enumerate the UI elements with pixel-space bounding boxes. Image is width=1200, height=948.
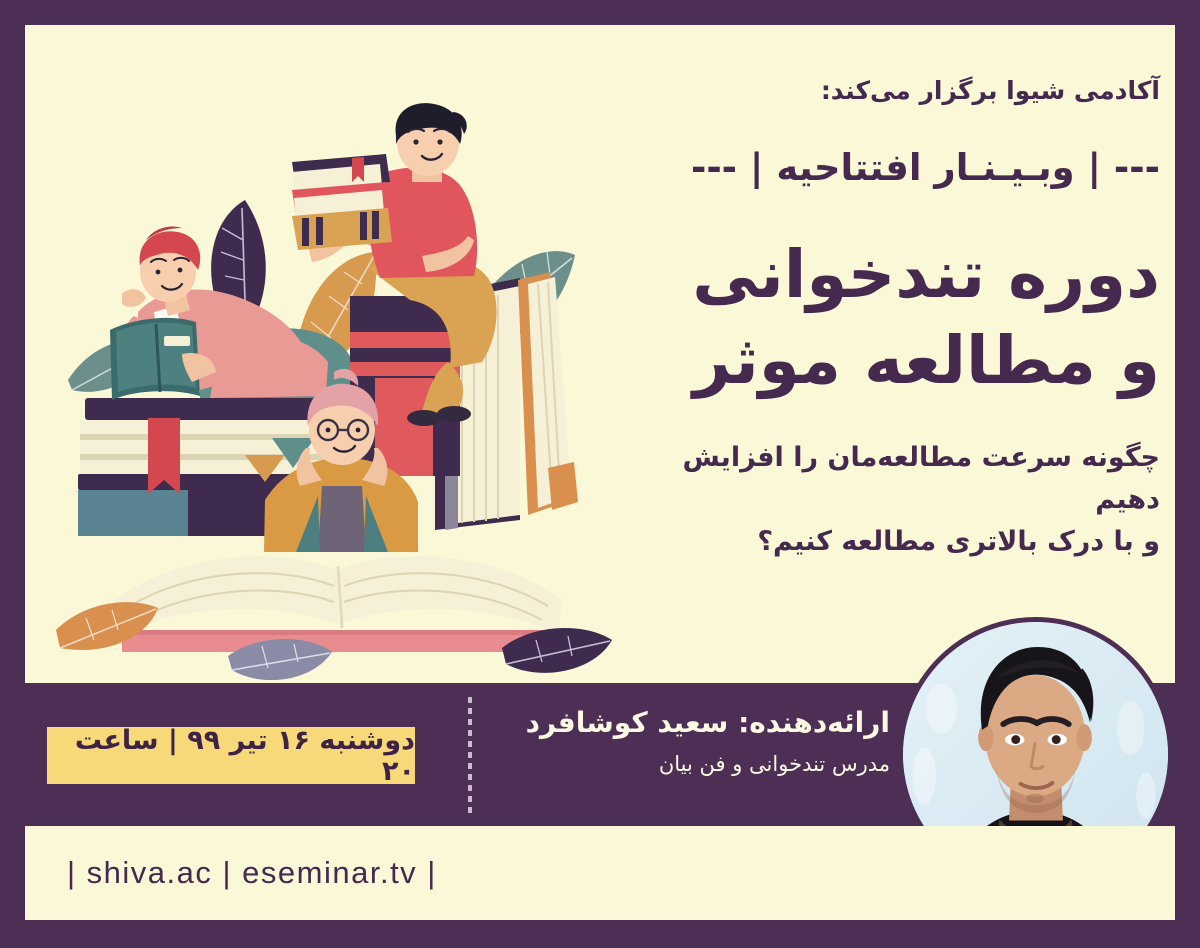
vertical-dotted-divider bbox=[468, 697, 472, 815]
date-time-badge: دوشنبه ۱۶ تیر ۹۹ | ساعت ۲۰ bbox=[47, 727, 415, 784]
footer-links[interactable]: | shiva.ac | eseminar.tv | bbox=[67, 855, 437, 891]
subtitle-line-2: و با درک بالاتری مطالعه کنیم؟ bbox=[640, 521, 1160, 563]
webinar-poster: آکادمی شیوا برگزار می‌کند: --- | وبـیـنـ… bbox=[0, 0, 1200, 948]
presenter-role: مدرس تندخوانی و فن بیان bbox=[490, 752, 890, 777]
reading-illustration bbox=[50, 100, 630, 680]
footer-bar: | shiva.ac | eseminar.tv | bbox=[25, 826, 1175, 920]
kicker-text: آکادمی شیوا برگزار می‌کند: bbox=[640, 75, 1160, 108]
open-book-bottom bbox=[115, 556, 562, 652]
text-column: آکادمی شیوا برگزار می‌کند: --- | وبـیـنـ… bbox=[640, 75, 1160, 563]
subtitle: چگونه سرعت مطالعه‌مان را افزایش دهیم و ب… bbox=[640, 437, 1160, 563]
presenter-name: ارائه‌دهنده: سعید کوشافرد bbox=[490, 706, 890, 740]
subtitle-line-1: چگونه سرعت مطالعه‌مان را افزایش دهیم bbox=[640, 437, 1160, 521]
title-line-1: دوره تندخوانی bbox=[640, 232, 1160, 318]
presenter-block: ارائه‌دهنده: سعید کوشافرد مدرس تندخوانی … bbox=[490, 706, 890, 777]
webinar-label: --- | وبـیـنـار افتتاحیه | --- bbox=[640, 146, 1160, 190]
page-title: دوره تندخوانی و مطالعه موثر bbox=[640, 232, 1160, 404]
main-panel: آکادمی شیوا برگزار می‌کند: --- | وبـیـنـ… bbox=[25, 25, 1175, 683]
title-line-2: و مطالعه موثر bbox=[640, 318, 1160, 404]
